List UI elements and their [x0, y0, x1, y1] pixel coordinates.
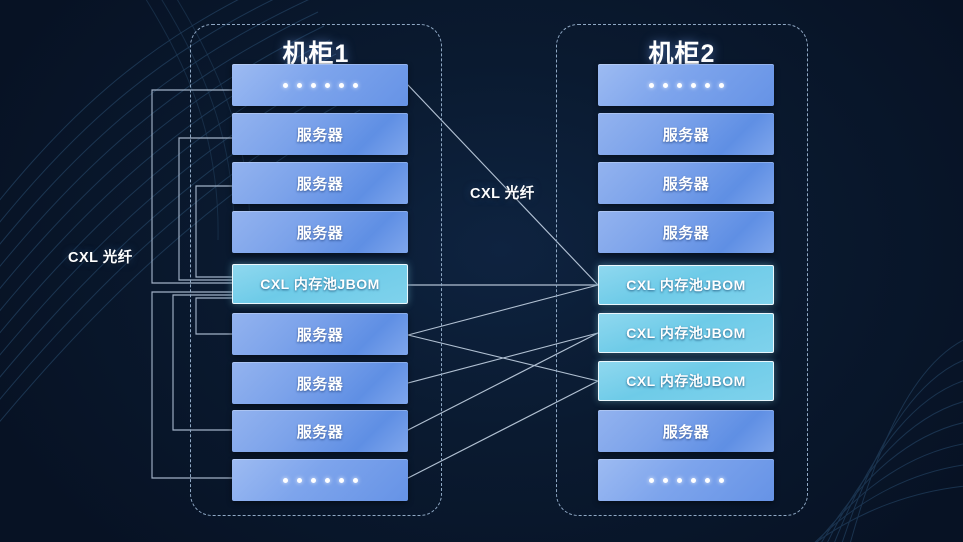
rack-2-unit-6-jbom[interactable]: CXL 内存池JBOM [598, 313, 774, 353]
rack-1-unit-8[interactable]: 服务器 [232, 410, 408, 452]
rack-2-unit-4[interactable]: 服务器 [598, 211, 774, 253]
fiber-label-middle: CXL 光纤 [470, 182, 535, 203]
rack-1-unit-7[interactable]: 服务器 [232, 362, 408, 404]
ellipsis-icon [283, 83, 358, 88]
rack-1-unit-1[interactable] [232, 64, 408, 106]
fiber-label-left: CXL 光纤 [68, 246, 133, 267]
rack-2-unit-1[interactable] [598, 64, 774, 106]
rack-1-unit-5-jbom[interactable]: CXL 内存池JBOM [232, 264, 408, 304]
ellipsis-icon [283, 478, 358, 483]
background-decoration [0, 0, 963, 542]
ellipsis-icon [649, 83, 724, 88]
rack-1-unit-2[interactable]: 服务器 [232, 113, 408, 155]
rack-2-unit-9[interactable] [598, 459, 774, 501]
rack-1-unit-3[interactable]: 服务器 [232, 162, 408, 204]
ellipsis-icon [649, 478, 724, 483]
rack-2-unit-8[interactable]: 服务器 [598, 410, 774, 452]
rack-1-unit-4[interactable]: 服务器 [232, 211, 408, 253]
diagram-canvas: 机柜1 服务器 服务器 服务器 CXL 内存池JBOM 服务器 服务器 服务器 … [0, 0, 963, 542]
rack-2-unit-3[interactable]: 服务器 [598, 162, 774, 204]
rack-2-unit-7-jbom[interactable]: CXL 内存池JBOM [598, 361, 774, 401]
rack-2-unit-2[interactable]: 服务器 [598, 113, 774, 155]
rack-1-unit-9[interactable] [232, 459, 408, 501]
connector-lines [0, 0, 963, 542]
rack-1-unit-6[interactable]: 服务器 [232, 313, 408, 355]
rack-2-unit-5-jbom[interactable]: CXL 内存池JBOM [598, 265, 774, 305]
